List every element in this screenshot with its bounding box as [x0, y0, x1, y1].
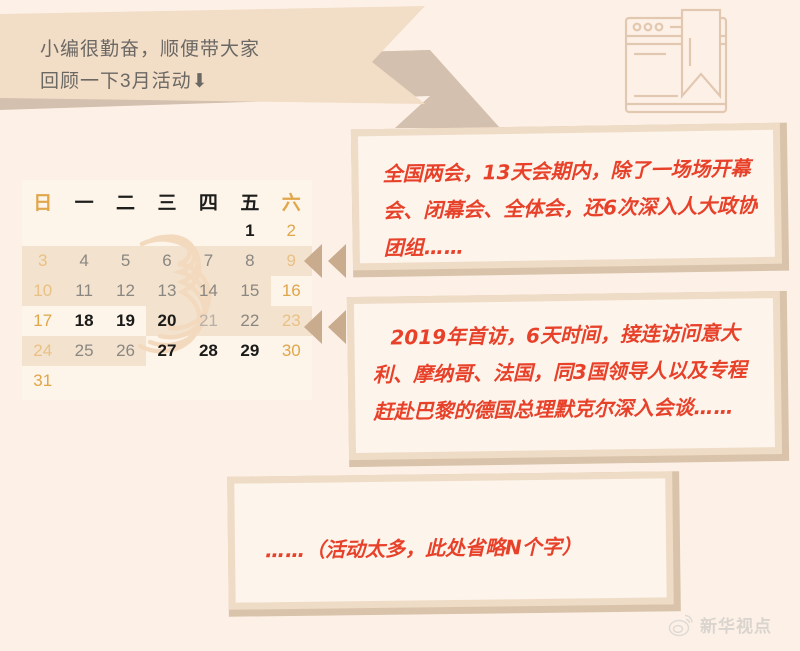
calendar-day-cell[interactable]: 15: [229, 276, 270, 306]
calendar-day-cell[interactable]: 8: [229, 246, 270, 276]
calendar-day-cell[interactable]: 28: [188, 336, 229, 366]
calendar-empty-cell: [63, 216, 104, 246]
calendar-empty-cell: [271, 366, 312, 396]
calendar-empty-cell: [229, 366, 270, 396]
calendar-empty-cell: [146, 216, 187, 246]
calendar-day-cell[interactable]: 11: [63, 276, 104, 306]
calendar-day-cell[interactable]: 24: [22, 336, 63, 366]
calendar-empty-cell: [188, 216, 229, 246]
browser-bookmark-icon: [620, 8, 738, 120]
calendar-day-cell[interactable]: 4: [63, 246, 104, 276]
calendar-day-cell[interactable]: 6: [146, 246, 187, 276]
calendar-day-cell[interactable]: 17: [22, 306, 63, 336]
double-chevron-left-icon-top: [300, 244, 348, 278]
banner-line-1: 小编很勤奋，顺便带大家: [40, 34, 260, 66]
double-chevron-left-icon-bottom: [300, 310, 348, 344]
calendar-day-cell[interactable]: 14: [188, 276, 229, 306]
calendar-day-cell[interactable]: 5: [105, 246, 146, 276]
calendar-empty-cell: [105, 366, 146, 396]
calendar-day-cell[interactable]: 22: [229, 306, 270, 336]
calendar-day-cell[interactable]: 21: [188, 306, 229, 336]
banner-text: 小编很勤奋，顺便带大家回顾一下3月活动⬇: [40, 34, 260, 98]
callout-inner: 2019年首访，6天时间，接连访问意大利、摩纳哥、法国，同3国领导人以及专程赶赴…: [354, 298, 775, 453]
calendar-day-cell[interactable]: 3: [22, 246, 63, 276]
calendar-empty-cell: [146, 366, 187, 396]
callout-frame: 2019年首访，6天时间，接连访问意大利、摩纳哥、法国，同3国领导人以及专程赶赴…: [347, 291, 782, 460]
calendar-day-cell[interactable]: 1: [229, 216, 270, 246]
calendar-day-cell[interactable]: 19: [105, 306, 146, 336]
calendar-day-cell[interactable]: 12: [105, 276, 146, 306]
calendar-day-cell[interactable]: 16: [271, 276, 312, 306]
calendar-day-cell[interactable]: 27: [146, 336, 187, 366]
calendar-empty-cell: [22, 216, 63, 246]
calendar-day-cell[interactable]: 31: [22, 366, 63, 396]
weibo-logo-icon: [668, 613, 694, 637]
calendar-day-cell[interactable]: 2: [271, 216, 312, 246]
callout-frame: ……（活动太多，此处省略N个字）: [227, 471, 674, 609]
callout-text: 2019年首访，6天时间，接连访问意大利、摩纳哥、法国，同3国领导人以及专程赶赴…: [372, 314, 761, 430]
callout-text: ……（活动太多，此处省略N个字）: [265, 529, 650, 568]
calendar-day-cell[interactable]: 18: [63, 306, 104, 336]
calendar-weekday-header: 三: [146, 186, 187, 216]
calendar-weekday-header: 一: [63, 186, 104, 216]
calendar-weekday-header: 六: [271, 186, 312, 216]
calendar-weekday-header: 五: [229, 186, 270, 216]
calendar-day-cell[interactable]: 7: [188, 246, 229, 276]
watermark: 新华视点: [668, 612, 772, 637]
callout-text: 全国两会，13天会期内，除了一场场开幕会、闭幕会、全体会，还6次深入人大政协团组…: [382, 150, 759, 267]
calendar-empty-cell: [63, 366, 104, 396]
calendar-grid[interactable]: 日一二三四五六123456789101112131415161718192021…: [22, 180, 312, 400]
watermark-text: 新华视点: [700, 612, 772, 637]
calendar-day-cell[interactable]: 10: [22, 276, 63, 306]
callout-omitted[interactable]: ……（活动太多，此处省略N个字）: [227, 471, 681, 617]
bookmark-ribbon-icon: [682, 10, 720, 96]
calendar-day-cell[interactable]: 26: [105, 336, 146, 366]
arrow-down-icon: ⬇: [192, 71, 209, 92]
calendar-day-cell[interactable]: 20: [146, 306, 187, 336]
banner-line-2: 回顾一下3月活动⬇: [40, 66, 260, 98]
calendar-day-cell[interactable]: 29: [229, 336, 270, 366]
calendar-day-cell[interactable]: 13: [146, 276, 187, 306]
callout-inner: 全国两会，13天会期内，除了一场场开幕会、闭幕会、全体会，还6次深入人大政协团组…: [358, 130, 775, 264]
calendar-day-cell[interactable]: 25: [63, 336, 104, 366]
calendar-weekday-header: 四: [188, 186, 229, 216]
callout-two-sessions[interactable]: 全国两会，13天会期内，除了一场场开幕会、闭幕会、全体会，还6次深入人大政协团组…: [351, 123, 789, 278]
callout-europe-visit[interactable]: 2019年首访，6天时间，接连访问意大利、摩纳哥、法国，同3国领导人以及专程赶赴…: [347, 291, 789, 467]
callout-frame: 全国两会，13天会期内，除了一场场开幕会、闭幕会、全体会，还6次深入人大政协团组…: [351, 123, 782, 271]
calendar-weekday-header: 日: [22, 186, 63, 216]
calendar-weekday-header: 二: [105, 186, 146, 216]
calendar-empty-cell: [105, 216, 146, 246]
header-banner: 小编很勤奋，顺便带大家回顾一下3月活动⬇: [0, 0, 500, 130]
calendar-empty-cell: [188, 366, 229, 396]
callout-inner: ……（活动太多，此处省略N个字）: [234, 478, 666, 602]
